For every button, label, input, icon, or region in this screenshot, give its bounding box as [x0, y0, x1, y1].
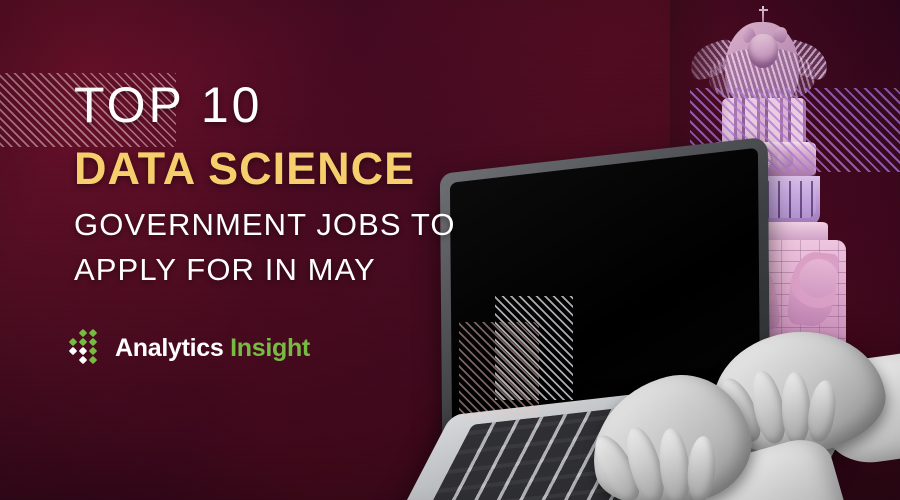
- background-vignette: [0, 0, 900, 500]
- poster-canvas: TOP 10 DATA SCIENCE GOVERNMENT JOBS TO A…: [0, 0, 900, 500]
